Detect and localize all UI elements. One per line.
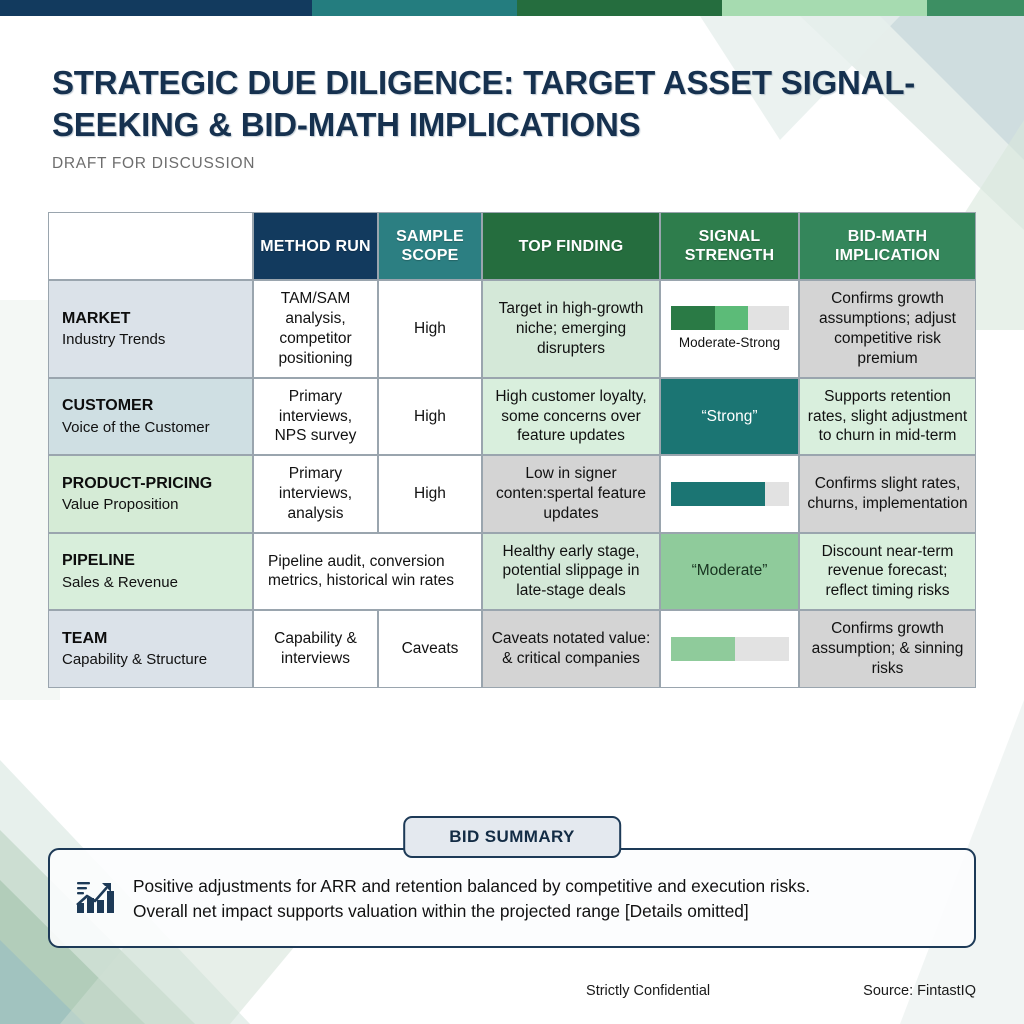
due-diligence-matrix: METHOD RUNSAMPLE SCOPETOP FINDINGSIGNAL … (48, 212, 976, 688)
row-label-product-pricing: PRODUCT-PRICINGValue Proposition (48, 455, 253, 532)
row-label-subtitle: Value Proposition (62, 495, 239, 514)
page-title: STRATEGIC DUE DILIGENCE: TARGET ASSET SI… (52, 62, 972, 146)
table-row: TEAMCapability & StructureCapability & i… (48, 610, 976, 687)
cell-method-run: Pipeline audit, conversion metrics, hist… (253, 533, 482, 610)
row-label-title: TEAM (62, 629, 239, 649)
table-row: PRODUCT-PRICINGValue PropositionPrimary … (48, 455, 976, 532)
cell-sample-scope: High (378, 378, 482, 455)
table-row: CUSTOMERVoice of the CustomerPrimary int… (48, 378, 976, 455)
table-corner-cell (48, 212, 253, 280)
cell-signal-strength: Moderate-Strong (660, 280, 799, 377)
row-label-team: TEAMCapability & Structure (48, 610, 253, 687)
cell-top-finding: Low in signer conten:spertal feature upd… (482, 455, 660, 532)
signal-gauge-label: Moderate-Strong (668, 334, 791, 351)
title-block: STRATEGIC DUE DILIGENCE: TARGET ASSET SI… (52, 62, 972, 173)
row-label-title: PIPELINE (62, 551, 239, 571)
signal-gauge-segment-2 (748, 306, 788, 330)
bid-summary-tab: BID SUMMARY (403, 816, 621, 858)
cell-bid-math-implication: Supports retention rates, slight adjustm… (799, 378, 976, 455)
signal-gauge (671, 482, 789, 506)
table-row: PIPELINESales & RevenuePipeline audit, c… (48, 533, 976, 610)
row-label-title: PRODUCT-PRICING (62, 474, 239, 494)
top-accent-segment-mid-green (927, 0, 1024, 16)
row-label-market: MARKETIndustry Trends (48, 280, 253, 377)
row-label-subtitle: Sales & Revenue (62, 573, 239, 592)
bid-summary-box: Positive adjustments for ARR and retenti… (48, 848, 976, 948)
cell-bid-math-implication: Confirms slight rates, churns, implement… (799, 455, 976, 532)
cell-bid-math-implication: Discount near-term revenue forecast; ref… (799, 533, 976, 610)
cell-signal-strength (660, 455, 799, 532)
cell-bid-math-implication: Confirms growth assumption; & sinning ri… (799, 610, 976, 687)
cell-signal-strength (660, 610, 799, 687)
cell-top-finding: Healthy early stage, potential slippage … (482, 533, 660, 610)
row-label-title: MARKET (62, 309, 239, 329)
cell-method-run: Capability & interviews (253, 610, 378, 687)
cell-signal-strength: “Moderate” (660, 533, 799, 610)
signal-gauge (671, 637, 789, 661)
cell-method-run: Primary interviews, NPS survey (253, 378, 378, 455)
table-header: METHOD RUNSAMPLE SCOPETOP FINDINGSIGNAL … (48, 212, 976, 280)
bid-summary-text: Positive adjustments for ARR and retenti… (133, 874, 810, 924)
cell-method-run: TAM/SAM analysis, competitor positioning (253, 280, 378, 377)
top-accent-segment-dark-green (517, 0, 722, 16)
cell-sample-scope: Caveats (378, 610, 482, 687)
cell-top-finding: High customer loyalty, some concerns ove… (482, 378, 660, 455)
column-header-signal: SIGNAL STRENGTH (660, 212, 799, 280)
cell-signal-strength: “Strong” (660, 378, 799, 455)
page-subtitle: DRAFT FOR DISCUSSION (52, 155, 972, 173)
bid-summary-line-1: Positive adjustments for ARR and retenti… (133, 874, 810, 899)
top-accent-bar (0, 0, 1024, 16)
column-header-scope: SAMPLE SCOPE (378, 212, 482, 280)
signal-gauge-segment-0 (671, 306, 716, 330)
column-header-bidmath: BID-MATH IMPLICATION (799, 212, 976, 280)
cell-sample-scope: High (378, 280, 482, 377)
signal-gauge-segment-0 (671, 482, 765, 506)
table-row: MARKETIndustry TrendsTAM/SAM analysis, c… (48, 280, 976, 377)
row-label-subtitle: Capability & Structure (62, 650, 239, 669)
signal-gauge-segment-1 (735, 637, 788, 661)
top-accent-segment-light-green (722, 0, 927, 16)
top-accent-segment-navy (0, 0, 312, 16)
row-label-pipeline: PIPELINESales & Revenue (48, 533, 253, 610)
row-label-title: CUSTOMER (62, 396, 239, 416)
cell-bid-math-implication: Confirms growth assumptions; adjust comp… (799, 280, 976, 377)
signal-gauge-segment-0 (671, 637, 736, 661)
cell-method-run: Primary interviews, analysis (253, 455, 378, 532)
cell-top-finding: Caveats notated value: & critical compan… (482, 610, 660, 687)
table-body: MARKETIndustry TrendsTAM/SAM analysis, c… (48, 280, 976, 687)
row-label-subtitle: Industry Trends (62, 330, 239, 349)
bar-chart-growth-icon (72, 874, 116, 923)
column-header-finding: TOP FINDING (482, 212, 660, 280)
cell-top-finding: Target in high-growth niche; emerging di… (482, 280, 660, 377)
footer-confidentiality: Strictly Confidential (586, 983, 710, 999)
footer: Strictly Confidential Source: FintastIQ (48, 983, 976, 999)
signal-gauge-segment-1 (765, 482, 789, 506)
cell-sample-scope: High (378, 455, 482, 532)
bid-summary-section: BID SUMMARY (48, 848, 976, 948)
row-label-customer: CUSTOMERVoice of the Customer (48, 378, 253, 455)
bid-summary-line-2: Overall net impact supports valuation wi… (133, 899, 810, 924)
footer-source: Source: FintastIQ (863, 983, 976, 999)
column-header-method: METHOD RUN (253, 212, 378, 280)
row-label-subtitle: Voice of the Customer (62, 418, 239, 437)
signal-gauge (671, 306, 789, 330)
signal-gauge-segment-1 (715, 306, 748, 330)
top-accent-segment-teal (312, 0, 517, 16)
